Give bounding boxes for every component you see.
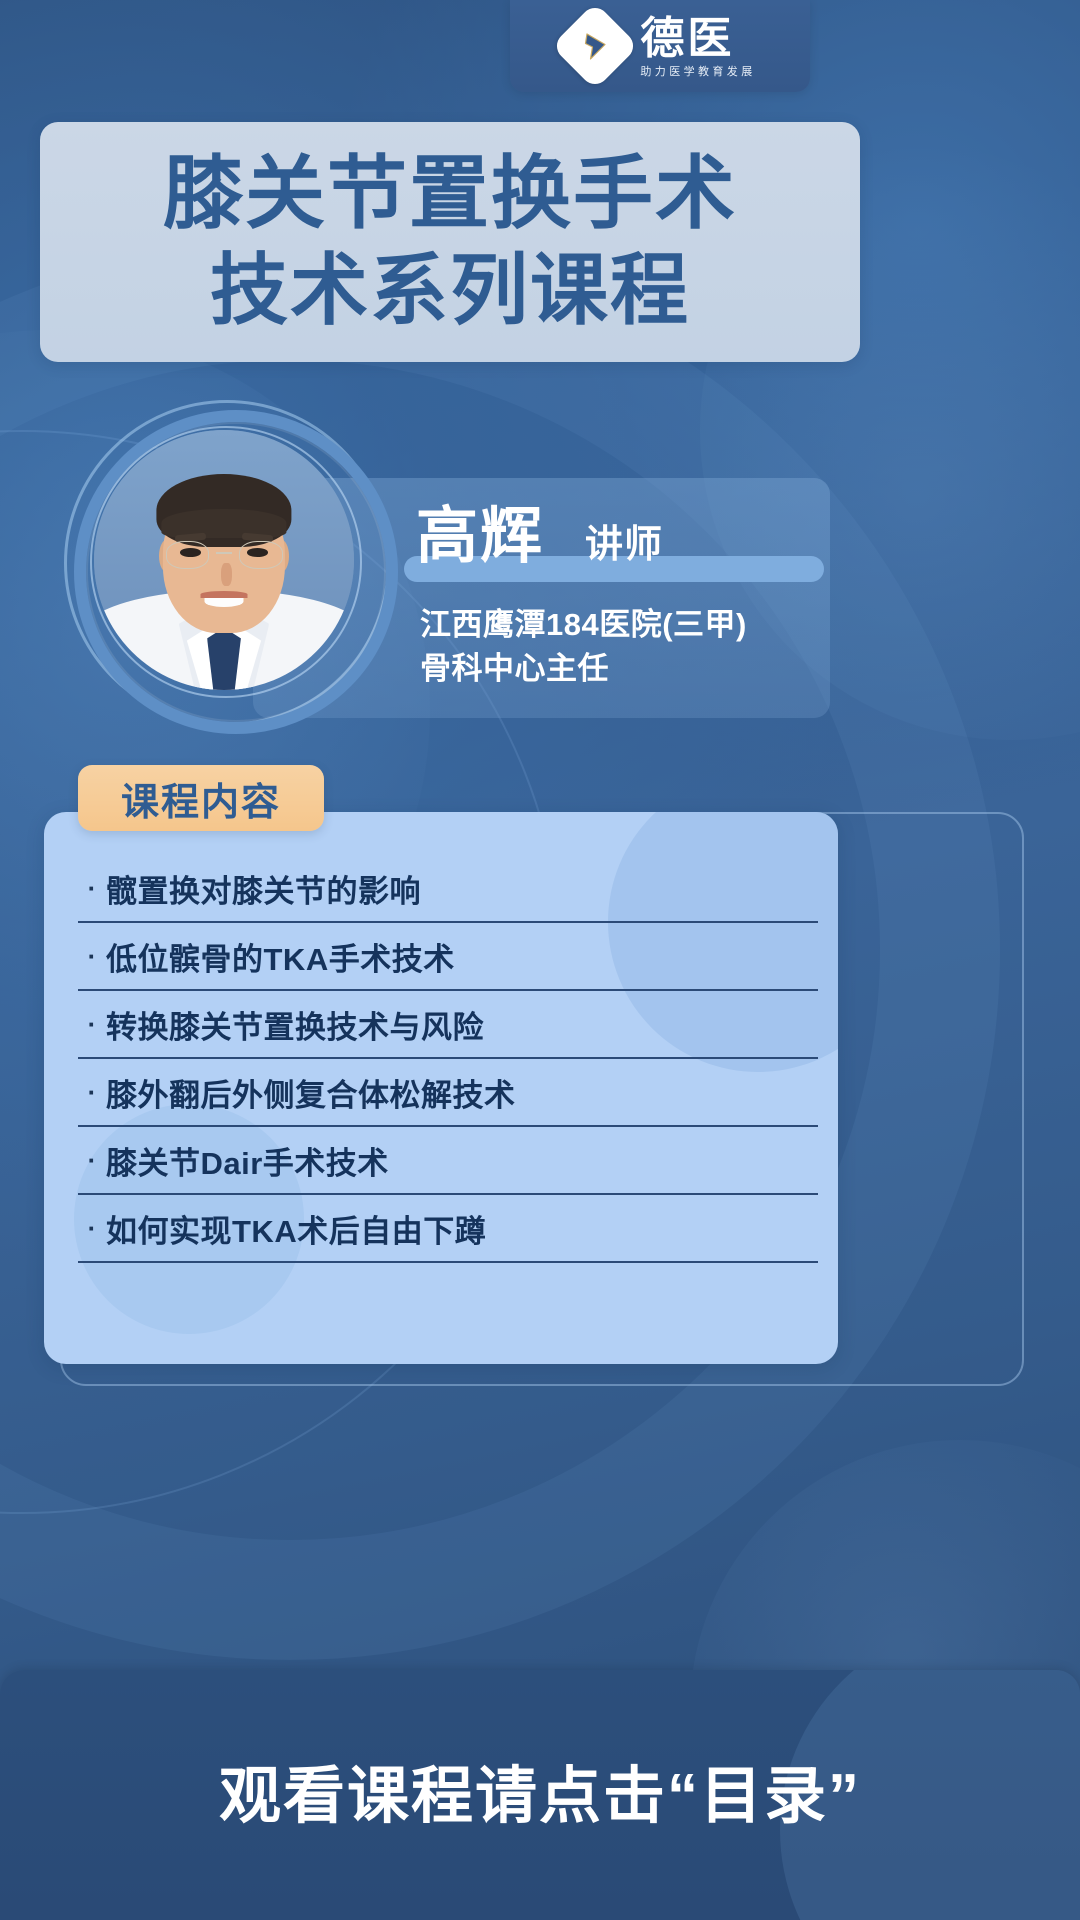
list-item[interactable]: · 膝外翻后外侧复合体松解技术	[78, 1059, 818, 1127]
list-item[interactable]: · 髋置换对膝关节的影响	[78, 855, 818, 923]
avatar	[64, 400, 384, 720]
brand-text-block: 德医 助力医学教育发展	[640, 16, 755, 79]
list-item-label: 转换膝关节置换技术与风险	[106, 1002, 484, 1047]
bullet-icon: ·	[78, 1077, 106, 1108]
list-item-label: 膝关节Dair手术技术	[106, 1138, 389, 1183]
bullet-icon: ·	[78, 1213, 106, 1244]
bullet-icon: ·	[78, 873, 106, 904]
cta-text: 观看课程请点击“目录”	[0, 1762, 1080, 1832]
brand-logo-panel: 德医 助力医学教育发展	[510, 0, 810, 92]
list-item[interactable]: · 转换膝关节置换技术与风险	[78, 991, 818, 1059]
list-item-label: 膝外翻后外侧复合体松解技术	[106, 1070, 516, 1115]
list-item-label: 髋置换对膝关节的影响	[106, 866, 421, 911]
instructor-org-line-1: 江西鹰潭184医院(三甲)	[420, 604, 747, 646]
bullet-icon: ·	[78, 941, 106, 972]
bullet-icon: ·	[78, 1009, 106, 1040]
course-item-list: · 髋置换对膝关节的影响 · 低位髌骨的TKA手术技术 · 转换膝关节置换技术与…	[78, 855, 818, 1263]
course-content-badge: 课程内容	[78, 765, 324, 831]
instructor-org-line-2: 骨科中心主任	[420, 648, 609, 690]
bullet-icon: ·	[78, 1145, 106, 1176]
list-item[interactable]: · 低位髌骨的TKA手术技术	[78, 923, 818, 991]
instructor-portrait-icon	[94, 430, 354, 690]
course-content-badge-label: 课程内容	[121, 771, 281, 826]
brand-name: 德医	[640, 16, 734, 62]
list-item[interactable]: · 膝关节Dair手术技术	[78, 1127, 818, 1195]
instructor-role: 讲师	[585, 524, 663, 566]
page-title-line-2: 技术系列课程	[210, 242, 690, 338]
poster-root: 德医 助力医学教育发展 膝关节置换手术 技术系列课程	[0, 0, 1080, 1920]
instructor-name: 高辉	[416, 505, 544, 569]
list-item-label: 如何实现TKA术后自由下蹲	[106, 1206, 486, 1251]
brand-tagline: 助力医学教育发展	[640, 65, 755, 79]
list-item-label: 低位髌骨的TKA手术技术	[106, 934, 455, 979]
footer-bar: 观看课程请点击“目录”	[0, 1670, 1080, 1920]
page-title-line-1: 膝关节置换手术	[163, 146, 737, 242]
play-diamond-icon	[552, 2, 640, 90]
title-card: 膝关节置换手术 技术系列课程	[40, 122, 860, 362]
list-item[interactable]: · 如何实现TKA术后自由下蹲	[78, 1195, 818, 1263]
